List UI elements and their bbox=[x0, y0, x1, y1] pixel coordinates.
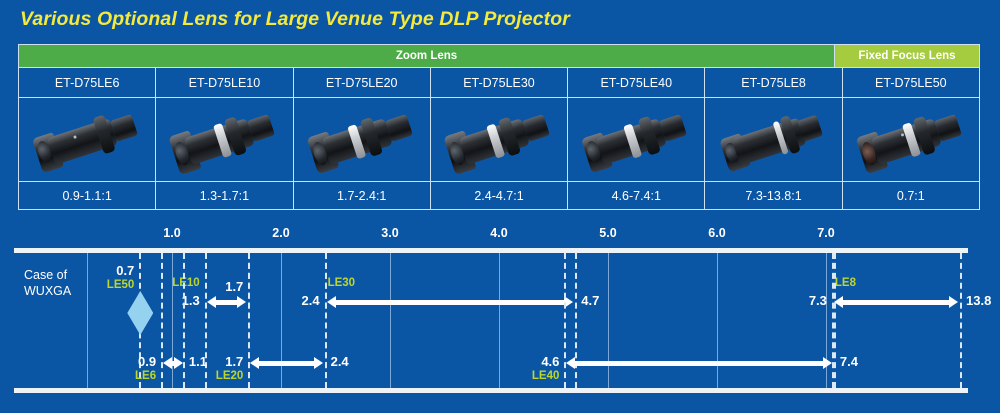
model-name-cell: ET-D75LE6 bbox=[18, 68, 156, 98]
value-le20-min: 1.7 bbox=[225, 354, 243, 369]
value-le40-max: 7.4 bbox=[840, 354, 858, 369]
value-le8-min: 7.3 bbox=[809, 293, 827, 308]
model-label-le10: LE10 bbox=[172, 277, 200, 289]
dashline-le40-max bbox=[834, 253, 836, 388]
range-arrow-le20 bbox=[259, 361, 313, 366]
value-le8-max: 13.8 bbox=[966, 293, 991, 308]
gridline-1 bbox=[172, 253, 173, 388]
lens-image-cell bbox=[293, 98, 431, 182]
case-label-line1: Case of bbox=[24, 268, 67, 282]
model-name-cell: ET-D75LE30 bbox=[430, 68, 568, 98]
lens-image-cell bbox=[155, 98, 293, 182]
range-arrow-le40 bbox=[575, 361, 822, 366]
projector-lens-icon bbox=[855, 103, 968, 177]
throw-ratio-axis: 1.02.03.04.05.06.07.0 bbox=[0, 226, 1000, 246]
gridline-2 bbox=[281, 253, 282, 388]
model-label-le40: LE40 bbox=[532, 370, 560, 382]
projector-lens-icon bbox=[31, 103, 144, 177]
model-name-cell: ET-D75LE10 bbox=[155, 68, 293, 98]
axis-tick-5-0: 5.0 bbox=[599, 226, 616, 240]
dashline-le8-max bbox=[960, 253, 962, 388]
range-arrow-le6 bbox=[172, 361, 174, 366]
value-le10-max: 1.7 bbox=[225, 279, 243, 294]
case-label: Case of WUXGA bbox=[24, 267, 71, 299]
lens-image-row bbox=[18, 98, 980, 182]
lens-image-cell bbox=[567, 98, 705, 182]
value-le6-min: 0.9 bbox=[138, 354, 156, 369]
range-arrow-le8 bbox=[843, 300, 949, 305]
model-name-cell: ET-D75LE40 bbox=[567, 68, 705, 98]
lens-image-cell bbox=[704, 98, 842, 182]
lens-image-cell bbox=[842, 98, 980, 182]
projector-lens-icon bbox=[580, 103, 693, 177]
lens-comparison-table: Zoom Lens Fixed Focus Lens ET-D75LE6 ET-… bbox=[18, 44, 980, 210]
gridline-3 bbox=[390, 253, 391, 388]
axis-tick-4-0: 4.0 bbox=[490, 226, 507, 240]
model-name-cell: ET-D75LE20 bbox=[293, 68, 431, 98]
value-le30-min: 2.4 bbox=[302, 293, 320, 308]
value-le6-max: 1.1 bbox=[189, 354, 207, 369]
value-le20-max: 2.4 bbox=[331, 354, 349, 369]
range-arrow-le10 bbox=[216, 300, 238, 305]
model-name-row: ET-D75LE6 ET-D75LE10 ET-D75LE20 ET-D75LE… bbox=[18, 68, 980, 98]
model-name-cell: ET-D75LE8 bbox=[704, 68, 842, 98]
model-label-le50: LE50 bbox=[107, 279, 135, 291]
value-le40-min: 4.6 bbox=[541, 354, 559, 369]
group-header-zoom-lens: Zoom Lens bbox=[18, 44, 835, 68]
axis-tick-3-0: 3.0 bbox=[381, 226, 398, 240]
throw-ratio-chart: Case of WUXGA 0.7LE501.31.7LE102.44.7LE3… bbox=[14, 248, 968, 393]
le50-fixed-marker bbox=[127, 291, 153, 335]
projector-lens-icon bbox=[168, 103, 281, 177]
case-panel-divider bbox=[87, 253, 88, 388]
throw-ratio-cell: 0.7:1 bbox=[842, 182, 980, 210]
dashline-le30-max bbox=[575, 253, 577, 388]
lens-image-cell bbox=[430, 98, 568, 182]
throw-ratio-cell: 1.7-2.4:1 bbox=[293, 182, 431, 210]
page-title: Various Optional Lens for Large Venue Ty… bbox=[20, 8, 570, 31]
throw-ratio-cell: 2.4-4.7:1 bbox=[430, 182, 568, 210]
projector-lens-icon bbox=[443, 103, 556, 177]
model-label-le6: LE6 bbox=[135, 370, 156, 382]
projector-lens-icon bbox=[305, 103, 418, 177]
lens-image-cell bbox=[18, 98, 156, 182]
model-label-le30: LE30 bbox=[328, 277, 356, 289]
chart-bottom-rule bbox=[14, 388, 968, 393]
chart-plot-area: Case of WUXGA 0.7LE501.31.7LE102.44.7LE3… bbox=[14, 253, 968, 388]
dashline-le20-max bbox=[325, 253, 327, 388]
value-le30-max: 4.7 bbox=[581, 293, 599, 308]
range-arrow-le30 bbox=[336, 300, 565, 305]
value-le50-0-7: 0.7 bbox=[116, 263, 134, 278]
axis-tick-7-0: 7.0 bbox=[817, 226, 834, 240]
model-label-le20: LE20 bbox=[216, 370, 244, 382]
throw-ratio-cell: 7.3-13.8:1 bbox=[704, 182, 842, 210]
throw-ratio-cell: 0.9-1.1:1 bbox=[18, 182, 156, 210]
group-header-row: Zoom Lens Fixed Focus Lens bbox=[18, 44, 980, 68]
dashline-le6-max bbox=[183, 253, 185, 388]
axis-tick-1-0: 1.0 bbox=[163, 226, 180, 240]
throw-ratio-cell: 1.3-1.7:1 bbox=[155, 182, 293, 210]
gridline-5 bbox=[608, 253, 609, 388]
lens-lineup-page: Various Optional Lens for Large Venue Ty… bbox=[0, 0, 1000, 413]
model-name-cell: ET-D75LE50 bbox=[842, 68, 980, 98]
gridline-4 bbox=[499, 253, 500, 388]
axis-tick-2-0: 2.0 bbox=[272, 226, 289, 240]
case-label-line2: WUXGA bbox=[24, 284, 71, 298]
group-header-fixed-focus-lens: Fixed Focus Lens bbox=[834, 44, 980, 68]
gridline-6 bbox=[717, 253, 718, 388]
throw-ratio-row: 0.9-1.1:1 1.3-1.7:1 1.7-2.4:1 2.4-4.7:1 … bbox=[18, 182, 980, 210]
projector-lens-icon bbox=[717, 103, 830, 177]
axis-tick-6-0: 6.0 bbox=[708, 226, 725, 240]
model-label-le8: LE8 bbox=[835, 277, 856, 289]
throw-ratio-cell: 4.6-7.4:1 bbox=[567, 182, 705, 210]
